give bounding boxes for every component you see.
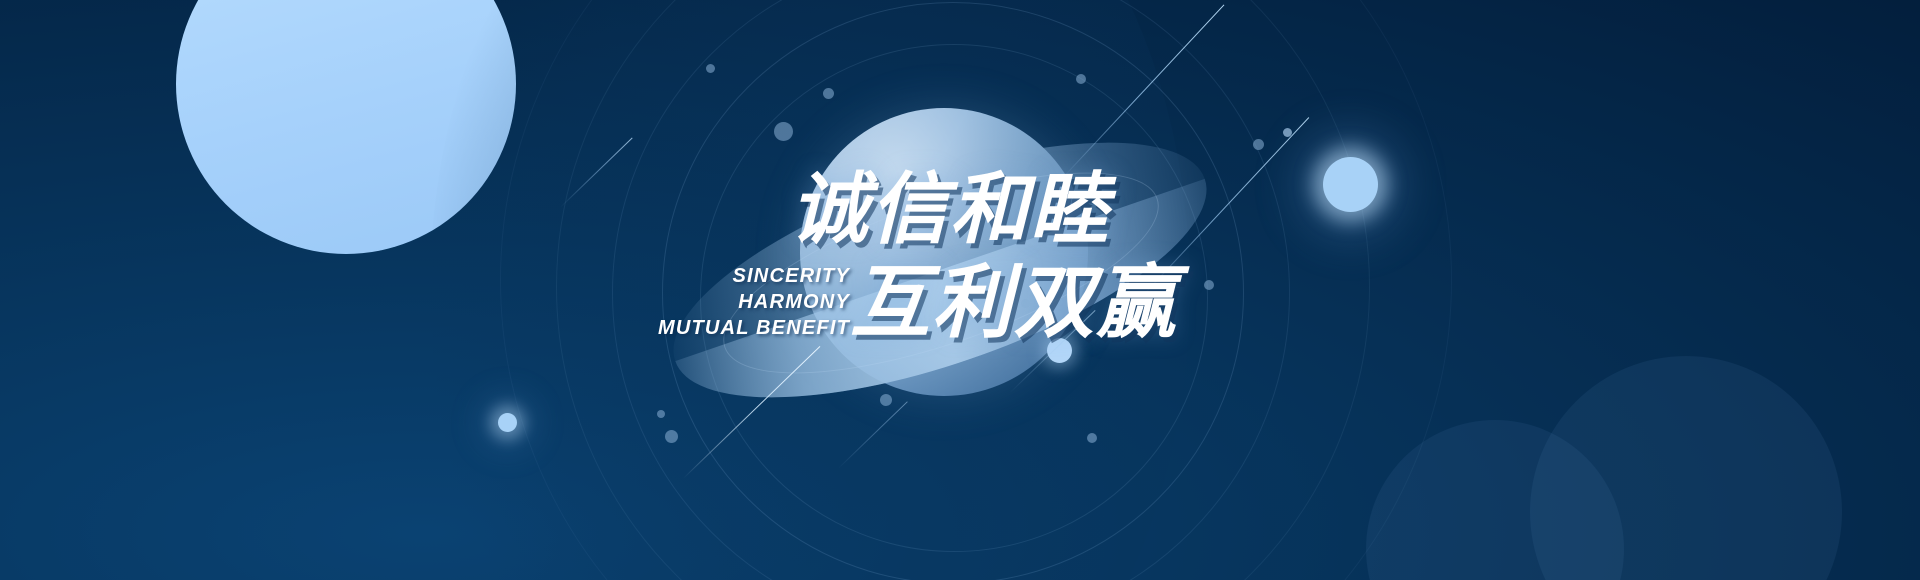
- subtitle-line-harmony: HARMONY: [560, 289, 850, 315]
- subtitle-line-mutual-benefit: MUTUAL BENEFIT: [560, 315, 850, 341]
- banner-copy: SINCERITY HARMONY MUTUAL BENEFIT 诚信和睦 互利…: [0, 0, 1920, 580]
- subtitle-line-sincerity: SINCERITY: [560, 263, 850, 289]
- banner-subtitle-english: SINCERITY HARMONY MUTUAL BENEFIT: [560, 263, 850, 341]
- hero-banner: SINCERITY HARMONY MUTUAL BENEFIT 诚信和睦 互利…: [0, 0, 1920, 580]
- banner-headline-line-2: 互利双赢: [850, 263, 1178, 343]
- banner-headline-line-1: 诚信和睦: [790, 170, 1110, 248]
